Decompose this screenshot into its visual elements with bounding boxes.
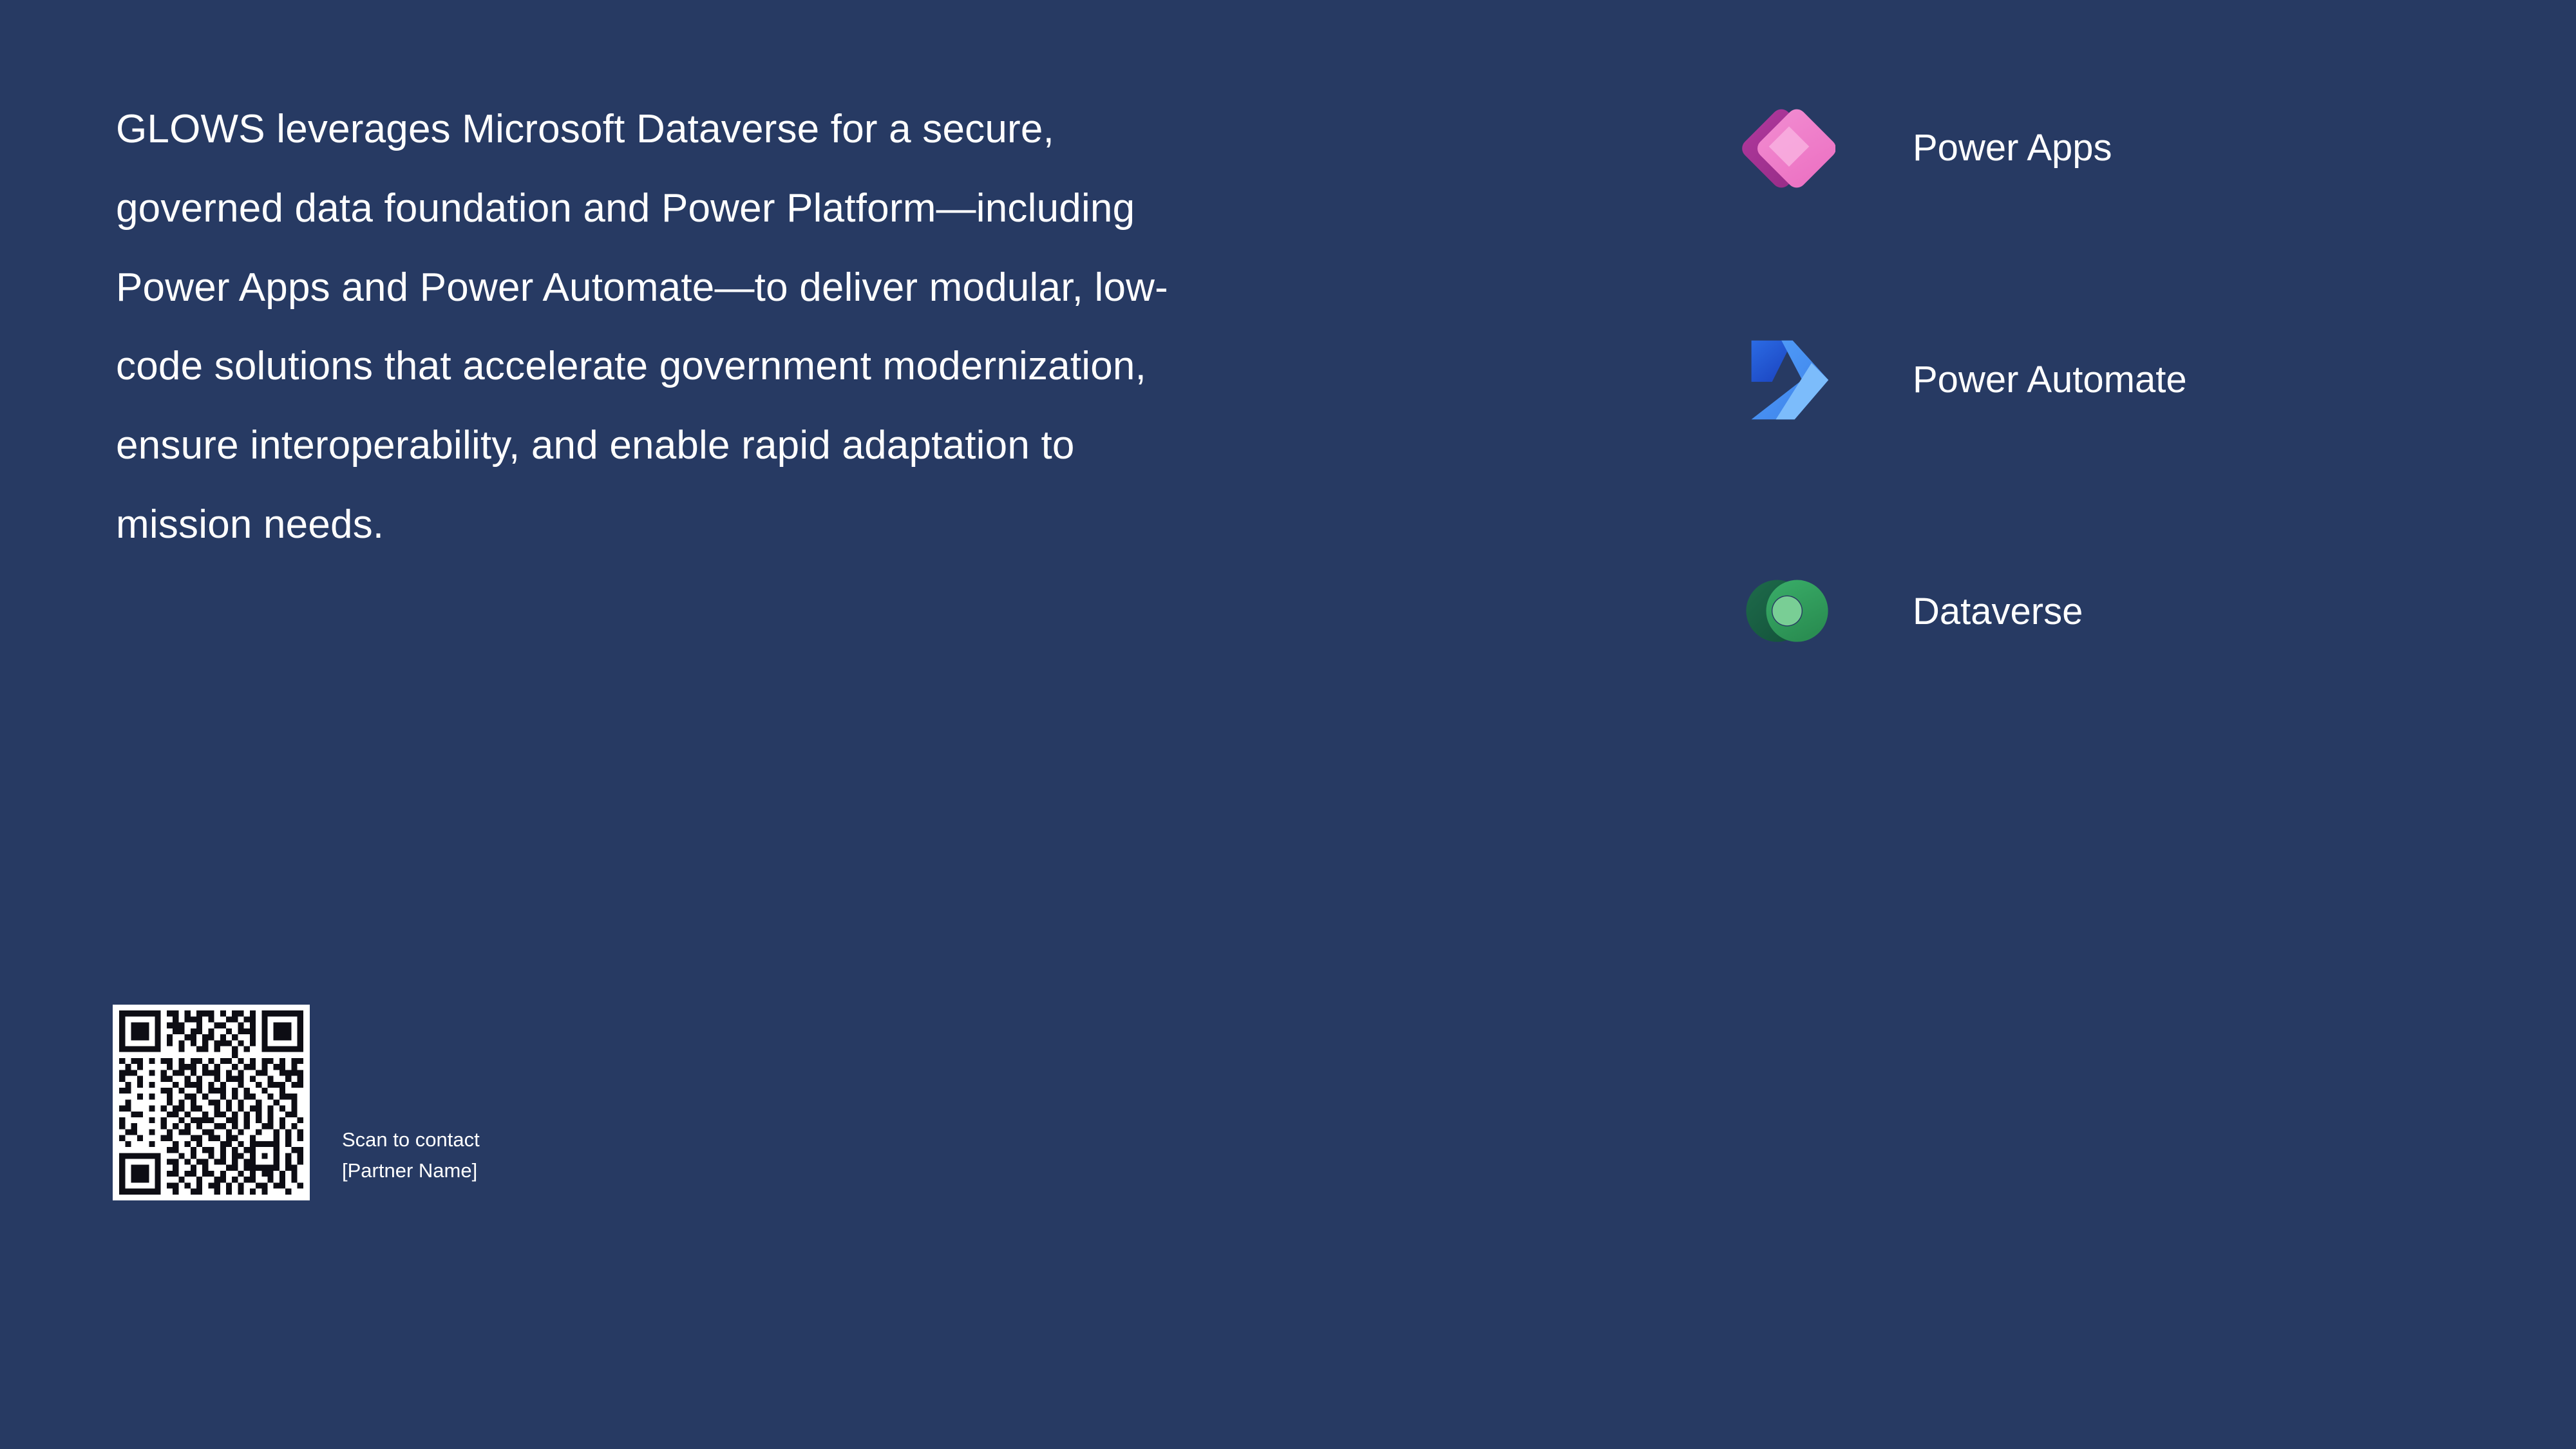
- qr-caption: Scan to contact [Partner Name]: [342, 1124, 480, 1186]
- product-label-power-automate: Power Automate: [1913, 361, 2187, 399]
- product-row-power-apps[interactable]: Power Apps: [1732, 97, 2505, 200]
- product-row-dataverse[interactable]: Dataverse: [1732, 560, 2505, 663]
- dataverse-logo-icon: [1732, 560, 1842, 663]
- body-paragraph: GLOWS leverages Microsoft Dataverse for …: [116, 90, 1211, 565]
- slide-canvas: GLOWS leverages Microsoft Dataverse for …: [0, 0, 2576, 1449]
- qr-code[interactable]: [113, 1005, 310, 1200]
- qr-caption-line-2: [Partner Name]: [342, 1155, 480, 1186]
- product-label-dataverse: Dataverse: [1913, 593, 2083, 630]
- power-automate-logo-icon: [1732, 328, 1842, 431]
- power-apps-logo-icon: [1732, 97, 1842, 200]
- qr-block: Scan to contact [Partner Name]: [113, 1005, 480, 1200]
- product-row-power-automate[interactable]: Power Automate: [1732, 328, 2505, 431]
- product-label-power-apps: Power Apps: [1913, 129, 2112, 167]
- qr-caption-line-1: Scan to contact: [342, 1124, 480, 1155]
- product-list: Power Apps: [1732, 97, 2505, 663]
